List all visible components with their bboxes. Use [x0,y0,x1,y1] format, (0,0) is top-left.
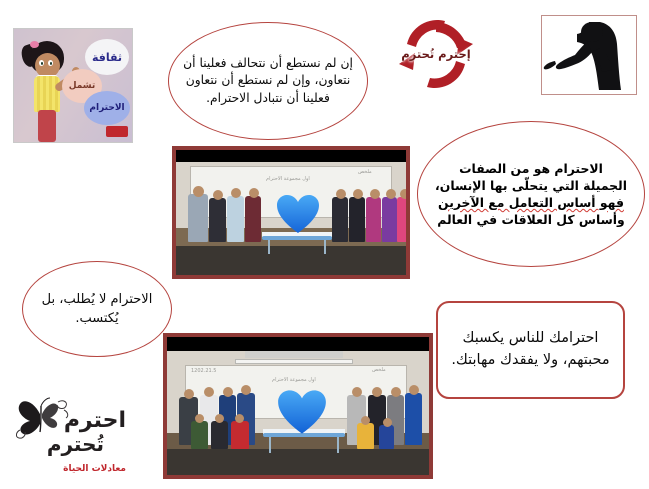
quote-2-line-4: وأساس كل العلاقات في العالم [428,211,634,228]
blue-heart-overlay [276,194,320,234]
quote-callout-alliance: إن لم نستطع أن نتحالف فعلينا أن نتعاون، … [168,22,368,140]
respect-cycle-icon: إحترم تُحترم [395,14,477,94]
cartoon-bubble-culture: ثقافة [85,39,129,75]
respect-cycle-label: إحترم تُحترم [395,47,477,61]
cartoon-girl-legs [38,110,56,142]
blue-heart-overlay [277,389,327,435]
quote-callout-love-and-awe: احترامك للناس يكسبك محبتهم، ولا يفقدك مه… [436,301,625,399]
quote-2-line-2: الجميلة التي يتحلّى بها الإنسان، [428,177,634,194]
quote-text-3: الاحترام لا يُطلب، بل يُكتسب. [23,290,171,329]
cartoon-girl-dress [34,76,60,112]
quote-text-1: إن لم نستطع أن نتحالف فعلينا أن نتعاون، … [169,55,367,107]
calligraphy-tagline: معادلات الحياة [63,464,126,474]
classroom-photo-girls: اول مجموعة الاحترام ملخص [172,146,410,279]
calligraphy-logo: احترم تُحترم معادلات الحياة [12,392,130,477]
quote-text-2: الاحترام هو من الصفات الجميلة التي يتحلّ… [418,160,644,228]
poster-canvas: ثقافة تشمل الاحترام إن لم نستطع أن نتحال… [0,0,649,489]
quote-callout-beautiful-traits: الاحترام هو من الصفات الجميلة التي يتحلّ… [417,121,645,267]
cartoon-bubble-respect: الاحترام [84,91,130,125]
cartoon-channel-logo [106,126,128,137]
cartoon-girl-hair-tie [30,41,39,48]
quote-callout-earned: الاحترام لا يُطلب، بل يُكتسب. [22,261,172,357]
cartoon-girl-pupil-right [50,62,53,65]
classroom-photo-boys: اول مجموعة الاحترام ملخص 5.12.2021 [163,333,433,479]
quote-text-4: احترامك للناس يكسبك محبتهم، ولا يفقدك مه… [438,328,623,372]
culture-includes-respect-cartoon: ثقافة تشمل الاحترام [13,28,133,143]
cartoon-girl-pupil-left [41,62,44,65]
quote-2-line-3: فهو أساس التعامل مع الآخرين [428,194,634,211]
bowing-man-silhouette [541,15,637,95]
calligraphy-line-1: احترم [64,408,126,433]
quote-2-line-1: الاحترام هو من الصفات [428,160,634,177]
calligraphy-line-2: تُحترم [47,432,104,456]
